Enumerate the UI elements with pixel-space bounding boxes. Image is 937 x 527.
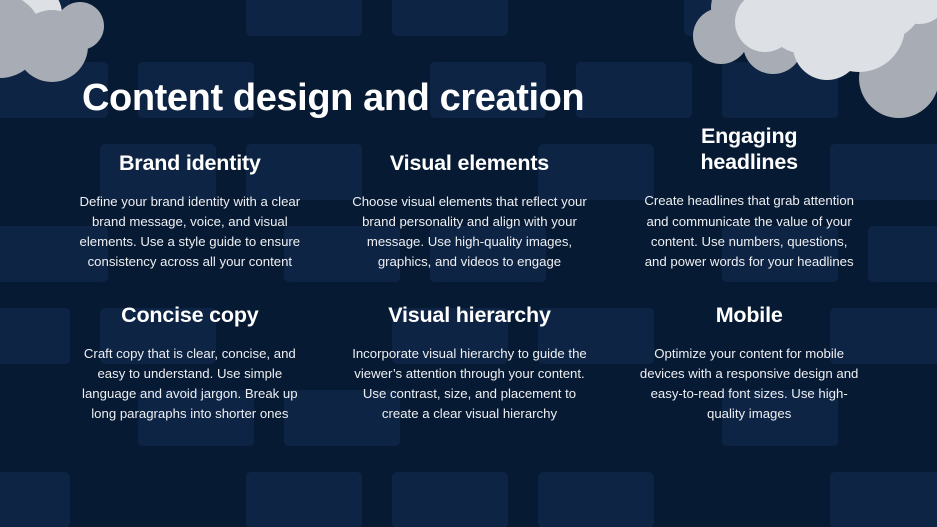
card-heading: Visual hierarchy: [388, 302, 551, 328]
card-brand-identity: Brand identity Define your brand identit…: [62, 118, 318, 298]
card-heading: Concise copy: [121, 302, 258, 328]
card-visual-elements: Visual elements Choose visual elements t…: [342, 118, 598, 298]
card-heading: Engaging headlines: [664, 123, 834, 175]
card-heading: Brand identity: [119, 150, 261, 176]
slide-canvas: Content design and creation Brand identi…: [0, 0, 937, 527]
card-concise-copy: Concise copy Craft copy that is clear, c…: [62, 298, 318, 463]
card-heading: Visual elements: [390, 150, 549, 176]
card-body: Incorporate visual hierarchy to guide th…: [352, 344, 587, 424]
card-engaging-headlines: Engaging headlines Create headlines that…: [621, 118, 877, 298]
cards-grid: Brand identity Define your brand identit…: [62, 118, 877, 463]
card-body: Create headlines that grab attention and…: [642, 191, 857, 271]
card-body: Define your brand identity with a clear …: [72, 192, 307, 272]
page-title: Content design and creation: [82, 77, 584, 120]
card-mobile: Mobile Optimize your content for mobile …: [621, 298, 877, 463]
card-body: Choose visual elements that reflect your…: [352, 192, 587, 272]
card-body: Optimize your content for mobile devices…: [638, 344, 860, 424]
card-visual-hierarchy: Visual hierarchy Incorporate visual hier…: [342, 298, 598, 463]
card-heading: Mobile: [716, 302, 783, 328]
card-body: Craft copy that is clear, concise, and e…: [72, 344, 307, 424]
